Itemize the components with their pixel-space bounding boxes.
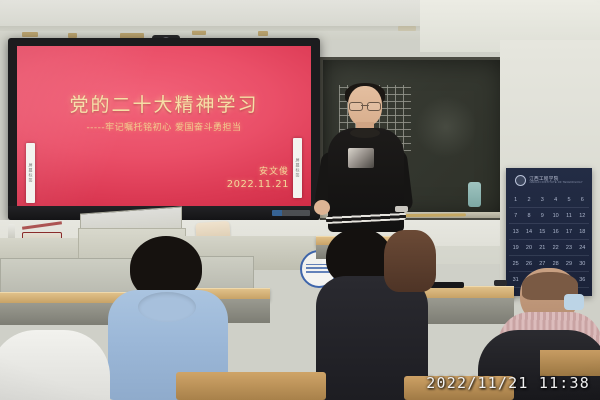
pocket-slot: 14 [522,224,535,240]
banner-logo-line2: JIANGXI INSTITUTE OF TECHNOLOGY [529,181,583,184]
pocket-slot: 6 [576,192,589,208]
pocket-slot: 19 [509,240,522,256]
banner-header: 江西工程学院 JIANGXI INSTITUTE OF TECHNOLOGY [506,172,592,188]
mount-bracket [22,32,38,37]
pocket-slot: 12 [576,208,589,224]
slide-title: 党的二十大精神学习 [17,90,311,117]
student-long-hair [384,230,436,292]
mount-bracket [192,30,206,35]
glasses-icon [349,102,381,109]
desk-edge [540,350,600,376]
slide-surface: 党的二十大精神学习 -----牢记嘱托铭初心 爱国奋斗勇担当 安文俊 2022.… [17,46,311,206]
pocket-slot: 11 [562,208,575,224]
hoodie-hood [138,292,196,322]
presenter-collar [350,128,380,138]
slide-date: 2022.11.21 [227,179,289,190]
pocket-slot: 21 [536,240,549,256]
camera-timestamp: 2022/11/21 11:38 [426,374,590,392]
pocket-slot: 9 [536,208,549,224]
pocket-slot: 5 [562,192,575,208]
pocket-slot: 22 [549,240,562,256]
pocket-slot: 20 [522,240,535,256]
screen-side-label-right: 屏幕标签 [293,138,302,198]
pocket-slot: 3 [536,192,549,208]
pocket-slot: 8 [522,208,535,224]
pocket-slot: 4 [549,192,562,208]
pocket-slot: 7 [509,208,522,224]
mount-bracket [398,26,416,31]
screen-side-label-left: 屏幕标签 [26,143,35,203]
chair-back [176,372,326,400]
face-mask [564,294,584,310]
pocket-slot: 1 [509,192,522,208]
pocket-slot: 17 [562,224,575,240]
wristwatch [395,206,408,212]
banner-logo-text: 江西工程学院 JIANGXI INSTITUTE OF TECHNOLOGY [529,176,583,185]
university-emblem-icon [515,175,526,186]
classroom-photo: 党的二十大精神学习 -----牢记嘱托铭初心 爱国奋斗勇担当 安文俊 2022.… [0,0,600,400]
banner-logo-line1: 江西工程学院 [529,176,558,181]
student-hair [384,230,436,292]
slide-subtitle: -----牢记嘱托铭初心 爱国奋斗勇担当 [17,120,311,133]
slide-presenter-name: 安文俊 [227,164,289,177]
screen-side-label-left-text: 屏幕标签 [28,163,34,183]
pocket-slot: 24 [576,240,589,256]
blackboard-eraser [468,182,481,207]
sweater-graphic [348,148,374,168]
mount-bracket [258,31,268,36]
student-white-jacket [0,330,110,400]
slide-meta: 安文俊 2022.11.21 [227,164,289,190]
presenter [322,86,408,234]
student-torso [0,330,110,400]
pocket-slot: 2 [522,192,535,208]
pocket-slot: 13 [509,224,522,240]
screen-side-label-right-text: 屏幕标签 [295,158,301,178]
pocket-slot: 10 [549,208,562,224]
pocket-slot: 18 [576,224,589,240]
chalk-smudge [415,96,477,158]
pocket-slot: 15 [536,224,549,240]
display-brand-logo [272,210,310,216]
pocket-slot: 23 [562,240,575,256]
pocket-slot: 16 [549,224,562,240]
projection-display[interactable]: 党的二十大精神学习 -----牢记嘱托铭初心 爱国奋斗勇担当 安文俊 2022.… [8,38,320,220]
presenter-hand [314,200,330,215]
